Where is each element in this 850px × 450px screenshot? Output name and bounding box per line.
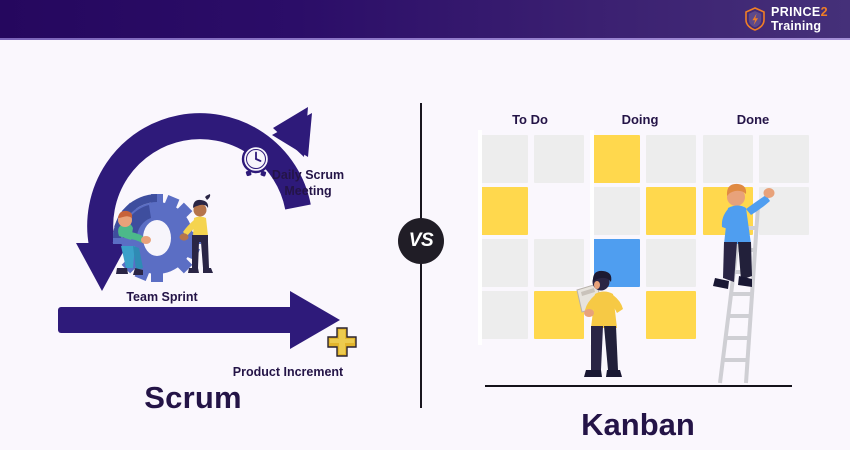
label-team-sprint: Team Sprint xyxy=(82,290,242,304)
sticky-note[interactable] xyxy=(646,135,696,183)
comparison-stage: Daily Scrum Meeting Team Sprint Product … xyxy=(0,40,850,450)
sticky-note[interactable] xyxy=(590,187,640,235)
sticky-note[interactable] xyxy=(478,187,528,235)
kanban-column-header-todo: To Do xyxy=(475,112,585,127)
brand-logo[interactable]: PRINCE2 Training xyxy=(745,6,828,32)
brand-text-two: 2 xyxy=(821,5,828,19)
app-header: PRINCE2 Training xyxy=(0,0,850,38)
kanban-panel: To Do Doing Done xyxy=(440,40,850,450)
sticky-note[interactable] xyxy=(478,291,528,339)
gear-icon xyxy=(95,180,235,290)
brand-text-prince: PRINCE xyxy=(771,5,821,19)
scrum-title: Scrum xyxy=(93,380,293,416)
label-daily-scrum-line1: Daily Scrum xyxy=(238,168,378,184)
sticky-note[interactable] xyxy=(590,135,640,183)
vs-label: VS xyxy=(409,230,434,252)
kanban-column-separator-1 xyxy=(478,130,482,345)
brand-wordmark: PRINCE2 Training xyxy=(771,6,828,32)
label-daily-scrum-line2: Meeting xyxy=(238,184,378,200)
sticky-note[interactable] xyxy=(646,291,696,339)
brand-line-prince2: PRINCE2 xyxy=(771,6,828,19)
kanban-title: Kanban xyxy=(493,407,783,443)
person-with-clipboard xyxy=(575,268,635,386)
sticky-note[interactable] xyxy=(759,135,809,183)
vs-badge: VS xyxy=(398,218,444,264)
scrum-panel: Daily Scrum Meeting Team Sprint Product … xyxy=(0,40,400,450)
plus-icon xyxy=(325,325,359,359)
kanban-column-header-doing: Doing xyxy=(585,112,695,127)
brand-line-training: Training xyxy=(771,20,828,33)
sticky-note[interactable] xyxy=(534,135,584,183)
sticky-note[interactable] xyxy=(646,239,696,287)
sticky-note[interactable] xyxy=(478,239,528,287)
kanban-column-header-done: Done xyxy=(698,112,808,127)
sticky-note[interactable] xyxy=(646,187,696,235)
ground-line xyxy=(485,385,792,387)
label-product-increment: Product Increment xyxy=(198,365,378,379)
label-daily-scrum-meeting: Daily Scrum Meeting xyxy=(238,168,378,199)
shield-icon xyxy=(745,7,765,31)
sticky-note[interactable] xyxy=(478,135,528,183)
person-on-ladder xyxy=(706,178,786,386)
sticky-note[interactable] xyxy=(703,135,753,183)
